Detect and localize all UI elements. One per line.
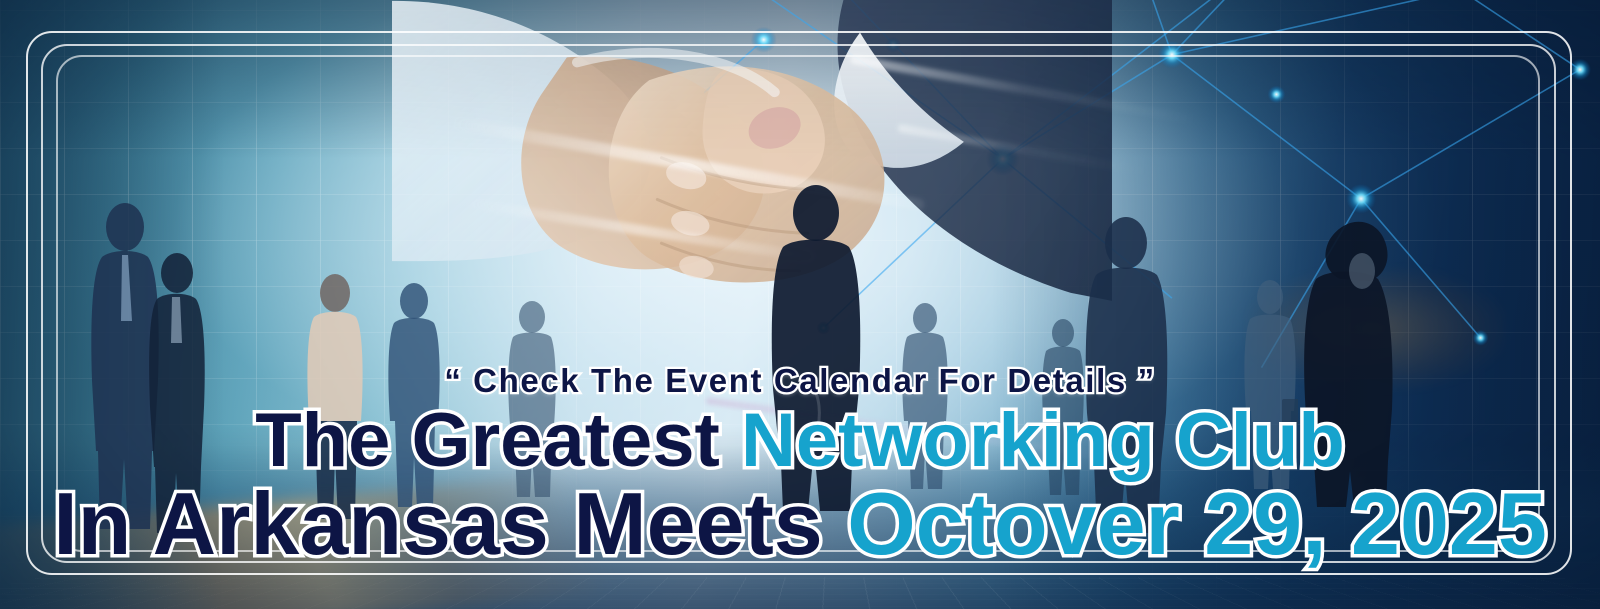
headline-line2-cyan: Octover 29, 2025 bbox=[847, 474, 1547, 573]
headline-line1-navy: The Greatest bbox=[255, 398, 741, 483]
banner-headline-line1: The Greatest Networking Club bbox=[0, 404, 1600, 478]
banner-headline-line2: In Arkansas Meets Octover 29, 2025 bbox=[0, 481, 1600, 567]
headline-line2-navy: In Arkansas Meets bbox=[53, 474, 847, 573]
banner-tagline: “ Check The Event Calendar For Details ” bbox=[0, 364, 1600, 399]
banner-copy: “ Check The Event Calendar For Details ”… bbox=[0, 364, 1600, 567]
headline-line1-cyan: Networking Club bbox=[741, 398, 1345, 483]
event-banner: “ Check The Event Calendar For Details ”… bbox=[0, 0, 1600, 609]
